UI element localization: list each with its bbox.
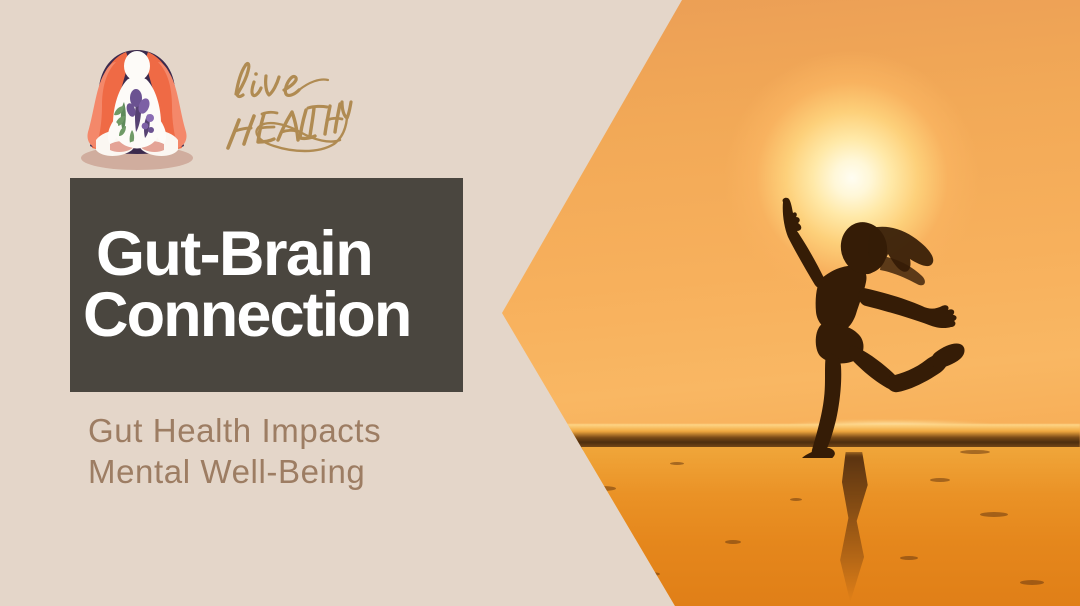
sand-speck [670, 462, 684, 465]
sand-speck [930, 478, 950, 482]
brand-logo-illustration [72, 40, 202, 172]
sunset-beach-photo [460, 0, 1080, 606]
dancing-woman-silhouette [760, 196, 980, 458]
sand-speck [1020, 580, 1044, 585]
sand-speck [590, 486, 616, 491]
sand-speck [980, 512, 1008, 517]
live-healthy-script-lockup [214, 52, 354, 156]
sand-speck [555, 520, 577, 524]
sand-speck [900, 556, 918, 560]
sand-speck [725, 540, 741, 544]
subtitle: Gut Health Impacts Mental Well-Being [88, 410, 508, 493]
wet-sand-beach [460, 447, 1080, 606]
sand-speck [640, 572, 660, 576]
poster-canvas: Gut-Brain Connection Gut Health Impacts … [0, 0, 1080, 606]
sand-speck [790, 498, 802, 501]
sand-speck [520, 470, 538, 474]
title-background-box [70, 178, 463, 392]
